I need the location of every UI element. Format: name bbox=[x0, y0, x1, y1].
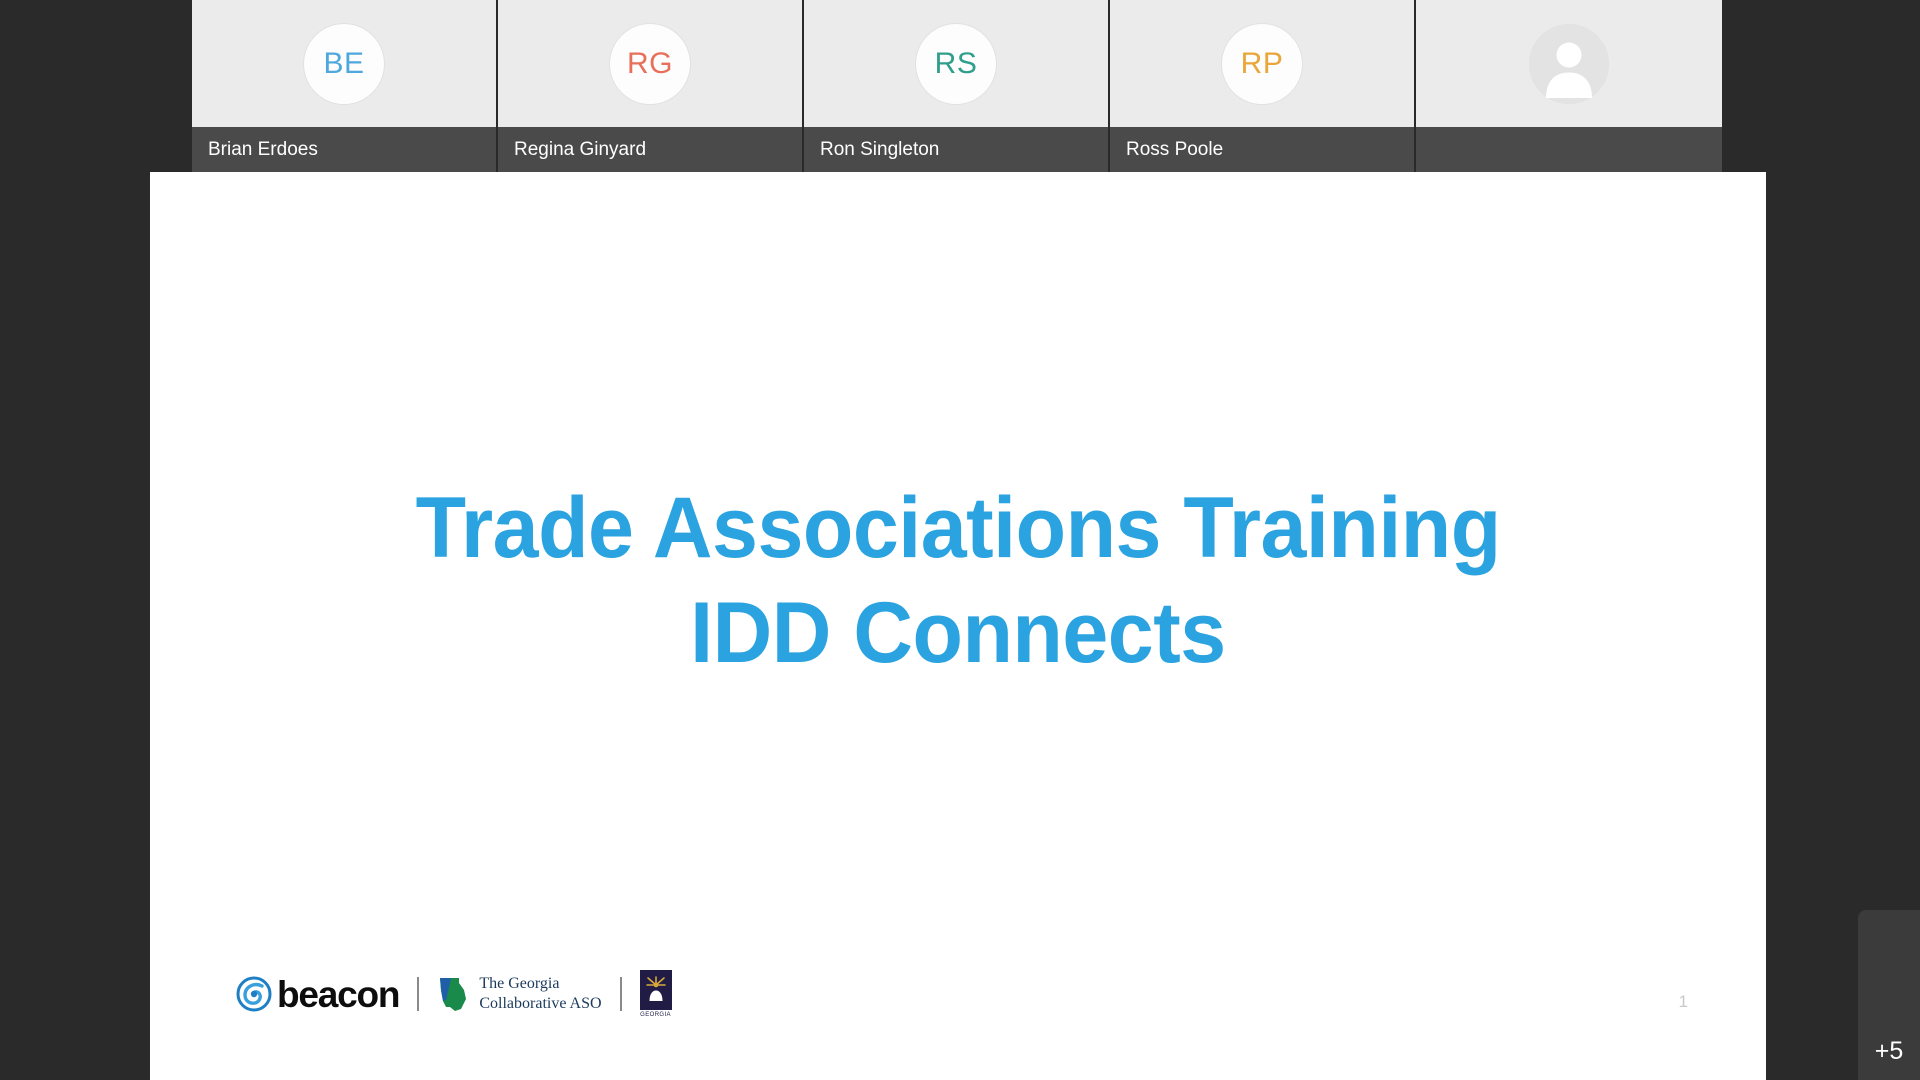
logo-georgia-line2: Collaborative ASO bbox=[479, 994, 601, 1014]
participant-name-bar bbox=[1416, 127, 1722, 172]
logo-divider bbox=[620, 977, 622, 1011]
participant-filmstrip: BE Brian Erdoes RG Regina Ginyard RS bbox=[192, 0, 1722, 172]
logo-state-seal: GEORGIA bbox=[640, 970, 672, 1018]
state-seal-icon bbox=[640, 970, 672, 1010]
slide-page-number: 1 bbox=[1679, 992, 1688, 1012]
participant-name-bar: Ron Singleton bbox=[804, 127, 1108, 172]
avatar-initials: RG bbox=[627, 47, 673, 81]
participant-name: Regina Ginyard bbox=[514, 139, 646, 161]
participant-tile-regina-ginyard[interactable]: RG Regina Ginyard bbox=[498, 0, 804, 172]
participant-name-bar: Brian Erdoes bbox=[192, 127, 496, 172]
logo-georgia-line1: The Georgia bbox=[479, 974, 601, 994]
participant-tile-unnamed[interactable] bbox=[1416, 0, 1722, 172]
logo-beacon-wordmark: beacon bbox=[277, 976, 399, 1013]
logo-seal-caption: GEORGIA bbox=[640, 1012, 671, 1018]
participant-video-area: RP bbox=[1110, 0, 1414, 127]
logo-georgia-text: The Georgia Collaborative ASO bbox=[479, 974, 601, 1013]
logo-georgia-collaborative: The Georgia Collaborative ASO bbox=[437, 974, 601, 1014]
avatar: RS bbox=[916, 24, 996, 104]
participant-name: Ross Poole bbox=[1126, 139, 1223, 161]
participant-tile-ron-singleton[interactable]: RS Ron Singleton bbox=[804, 0, 1110, 172]
person-silhouette-icon bbox=[1529, 24, 1609, 104]
zoom-meeting-window: BE Brian Erdoes RG Regina Ginyard RS bbox=[0, 0, 1920, 1080]
more-participants-count: +5 bbox=[1875, 1037, 1904, 1066]
slide-title-block: Trade Associations Training IDD Connects bbox=[150, 172, 1766, 1080]
slide-title-line-1: Trade Associations Training bbox=[415, 476, 1500, 581]
participant-name-bar: Regina Ginyard bbox=[498, 127, 802, 172]
participant-video-area: RG bbox=[498, 0, 802, 127]
participant-name-bar: Ross Poole bbox=[1110, 127, 1414, 172]
beacon-swirl-icon bbox=[236, 976, 272, 1012]
avatar-initials: BE bbox=[323, 47, 364, 81]
avatar-initials: RS bbox=[935, 47, 978, 81]
slide-footer-logos: beacon The Georgia Collaborative ASO bbox=[236, 970, 672, 1018]
default-avatar-icon bbox=[1529, 24, 1609, 104]
participant-video-area bbox=[1416, 0, 1722, 127]
logo-beacon: beacon bbox=[236, 976, 399, 1013]
avatar-initials: RP bbox=[1241, 47, 1284, 81]
georgia-state-shape-icon bbox=[437, 974, 471, 1014]
participant-name: Brian Erdoes bbox=[208, 139, 318, 161]
participant-tile-brian-erdoes[interactable]: BE Brian Erdoes bbox=[192, 0, 498, 172]
participant-tile-ross-poole[interactable]: RP Ross Poole bbox=[1110, 0, 1416, 172]
shared-screen-slide[interactable]: Trade Associations Training IDD Connects… bbox=[150, 172, 1766, 1080]
seal-emblem-icon bbox=[643, 974, 669, 1006]
avatar: BE bbox=[304, 24, 384, 104]
avatar: RP bbox=[1222, 24, 1302, 104]
more-participants-tile[interactable]: +5 bbox=[1858, 910, 1920, 1080]
avatar: RG bbox=[610, 24, 690, 104]
participant-video-area: RS bbox=[804, 0, 1108, 127]
logo-divider bbox=[417, 977, 419, 1011]
slide-title-line-2: IDD Connects bbox=[690, 581, 1226, 686]
participant-name: Ron Singleton bbox=[820, 139, 939, 161]
participant-video-area: BE bbox=[192, 0, 496, 127]
